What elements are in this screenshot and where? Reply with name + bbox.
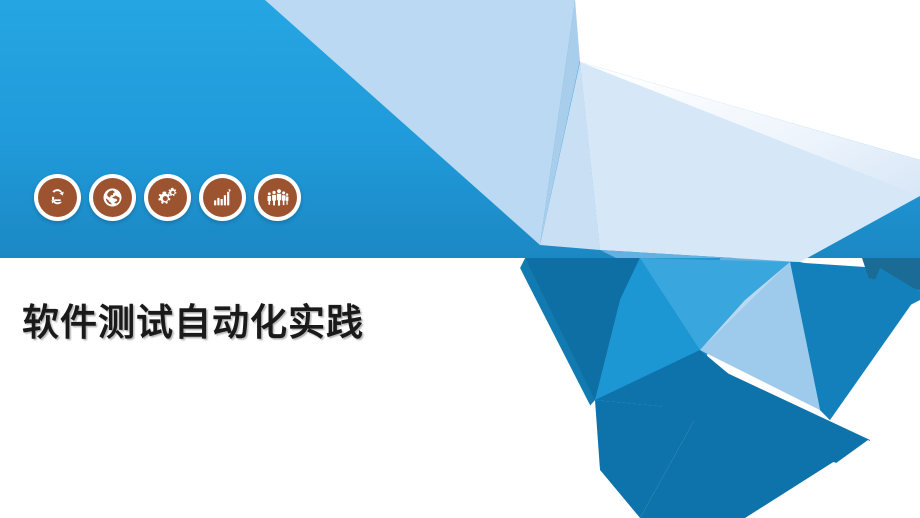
bar-chart-icon [211, 186, 234, 209]
icon-badge-bar-chart[interactable] [199, 174, 246, 221]
icon-disc [203, 178, 242, 217]
page-title: 软件测试自动化实践 [22, 292, 364, 346]
background-artwork [0, 0, 920, 518]
icon-badge-people-group[interactable] [254, 174, 301, 221]
icon-disc [258, 178, 297, 217]
slide-canvas: 数智创新 变革未来 [0, 0, 920, 518]
icon-badge-recycle[interactable] [34, 174, 81, 221]
header-tagline: 数智创新 变革未来 [711, 24, 902, 54]
recycle-arrow-icon [46, 186, 69, 209]
people-group-icon [266, 186, 289, 209]
icon-disc [148, 178, 187, 217]
icon-strip [34, 174, 301, 221]
icon-badge-gears[interactable] [144, 174, 191, 221]
gears-icon [156, 186, 179, 209]
icon-disc [93, 178, 132, 217]
icon-badge-globe[interactable] [89, 174, 136, 221]
globe-icon [101, 186, 124, 209]
icon-disc [38, 178, 77, 217]
